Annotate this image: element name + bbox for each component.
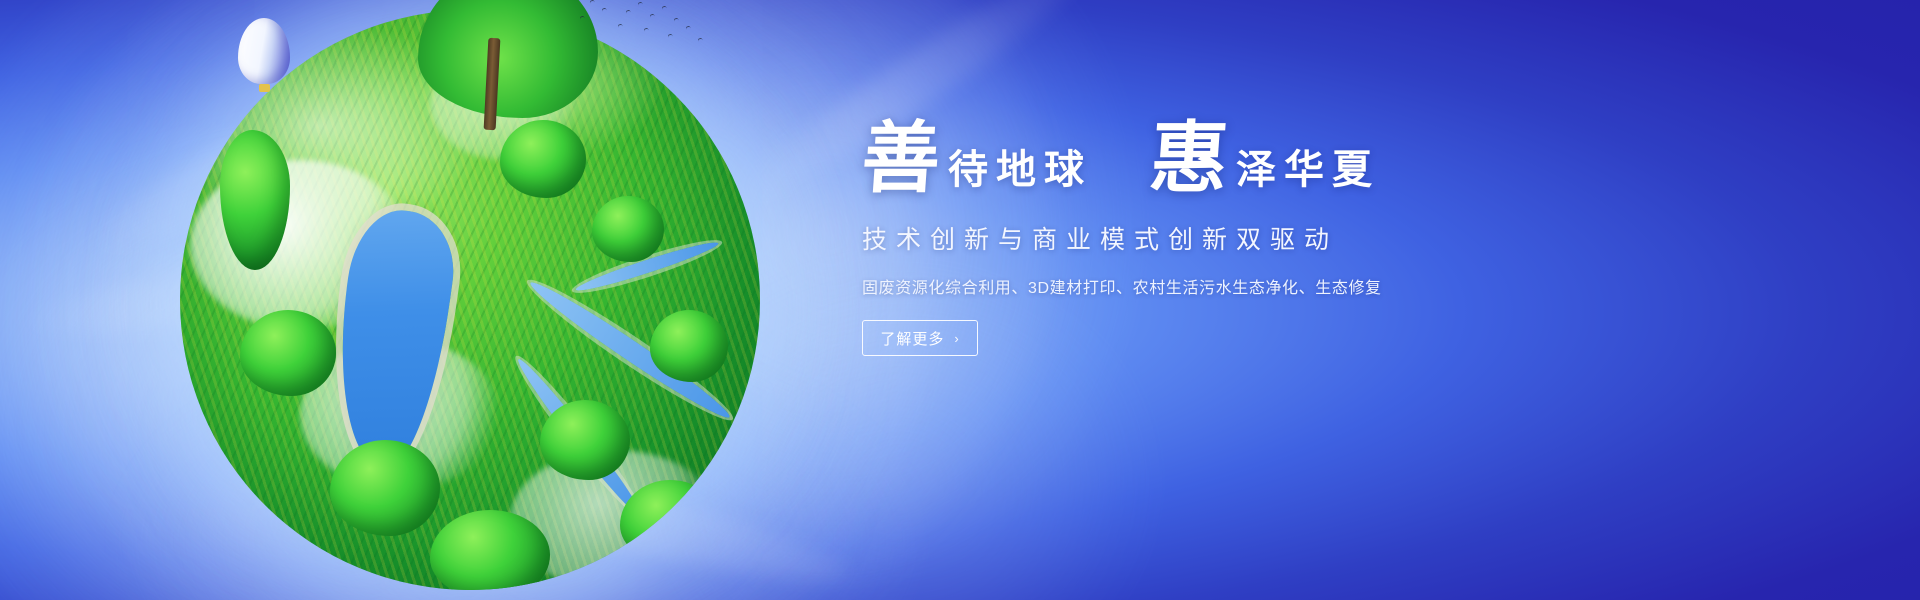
hero-headline: 善 待地球 惠 泽华夏: [862, 120, 1562, 198]
headline-char-hui: 惠: [1147, 120, 1230, 198]
hero-tagline: 技术创新与商业模式创新双驱动: [862, 220, 1562, 256]
hero-content: 善 待地球 惠 泽华夏 技术创新与商业模式创新双驱动 固废资源化综合利用、3D建…: [862, 120, 1562, 356]
tree: [500, 120, 586, 198]
headline-char-shan: 善: [859, 120, 942, 198]
tree: [540, 400, 630, 480]
tree: [592, 196, 664, 262]
tree: [240, 310, 336, 396]
hero-description: 固废资源化综合利用、3D建材打印、农村生活污水生态净化、生态修复: [862, 274, 1562, 298]
hero-banner: 善 待地球 惠 泽华夏 技术创新与商业模式创新双驱动 固废资源化综合利用、3D建…: [0, 0, 1920, 600]
headline-text-zehuaxia: 泽华夏: [1236, 150, 1380, 198]
tree: [650, 310, 728, 382]
tree: [330, 440, 440, 536]
learn-more-button[interactable]: 了解更多 ›: [862, 320, 978, 356]
headline-text-daidiqiu: 待地球: [948, 150, 1092, 198]
globe-artwork: [150, 0, 790, 600]
hot-air-balloon: [238, 18, 290, 84]
chevron-right-icon: ›: [954, 331, 959, 346]
tree: [620, 480, 720, 564]
learn-more-label: 了解更多: [880, 328, 944, 349]
